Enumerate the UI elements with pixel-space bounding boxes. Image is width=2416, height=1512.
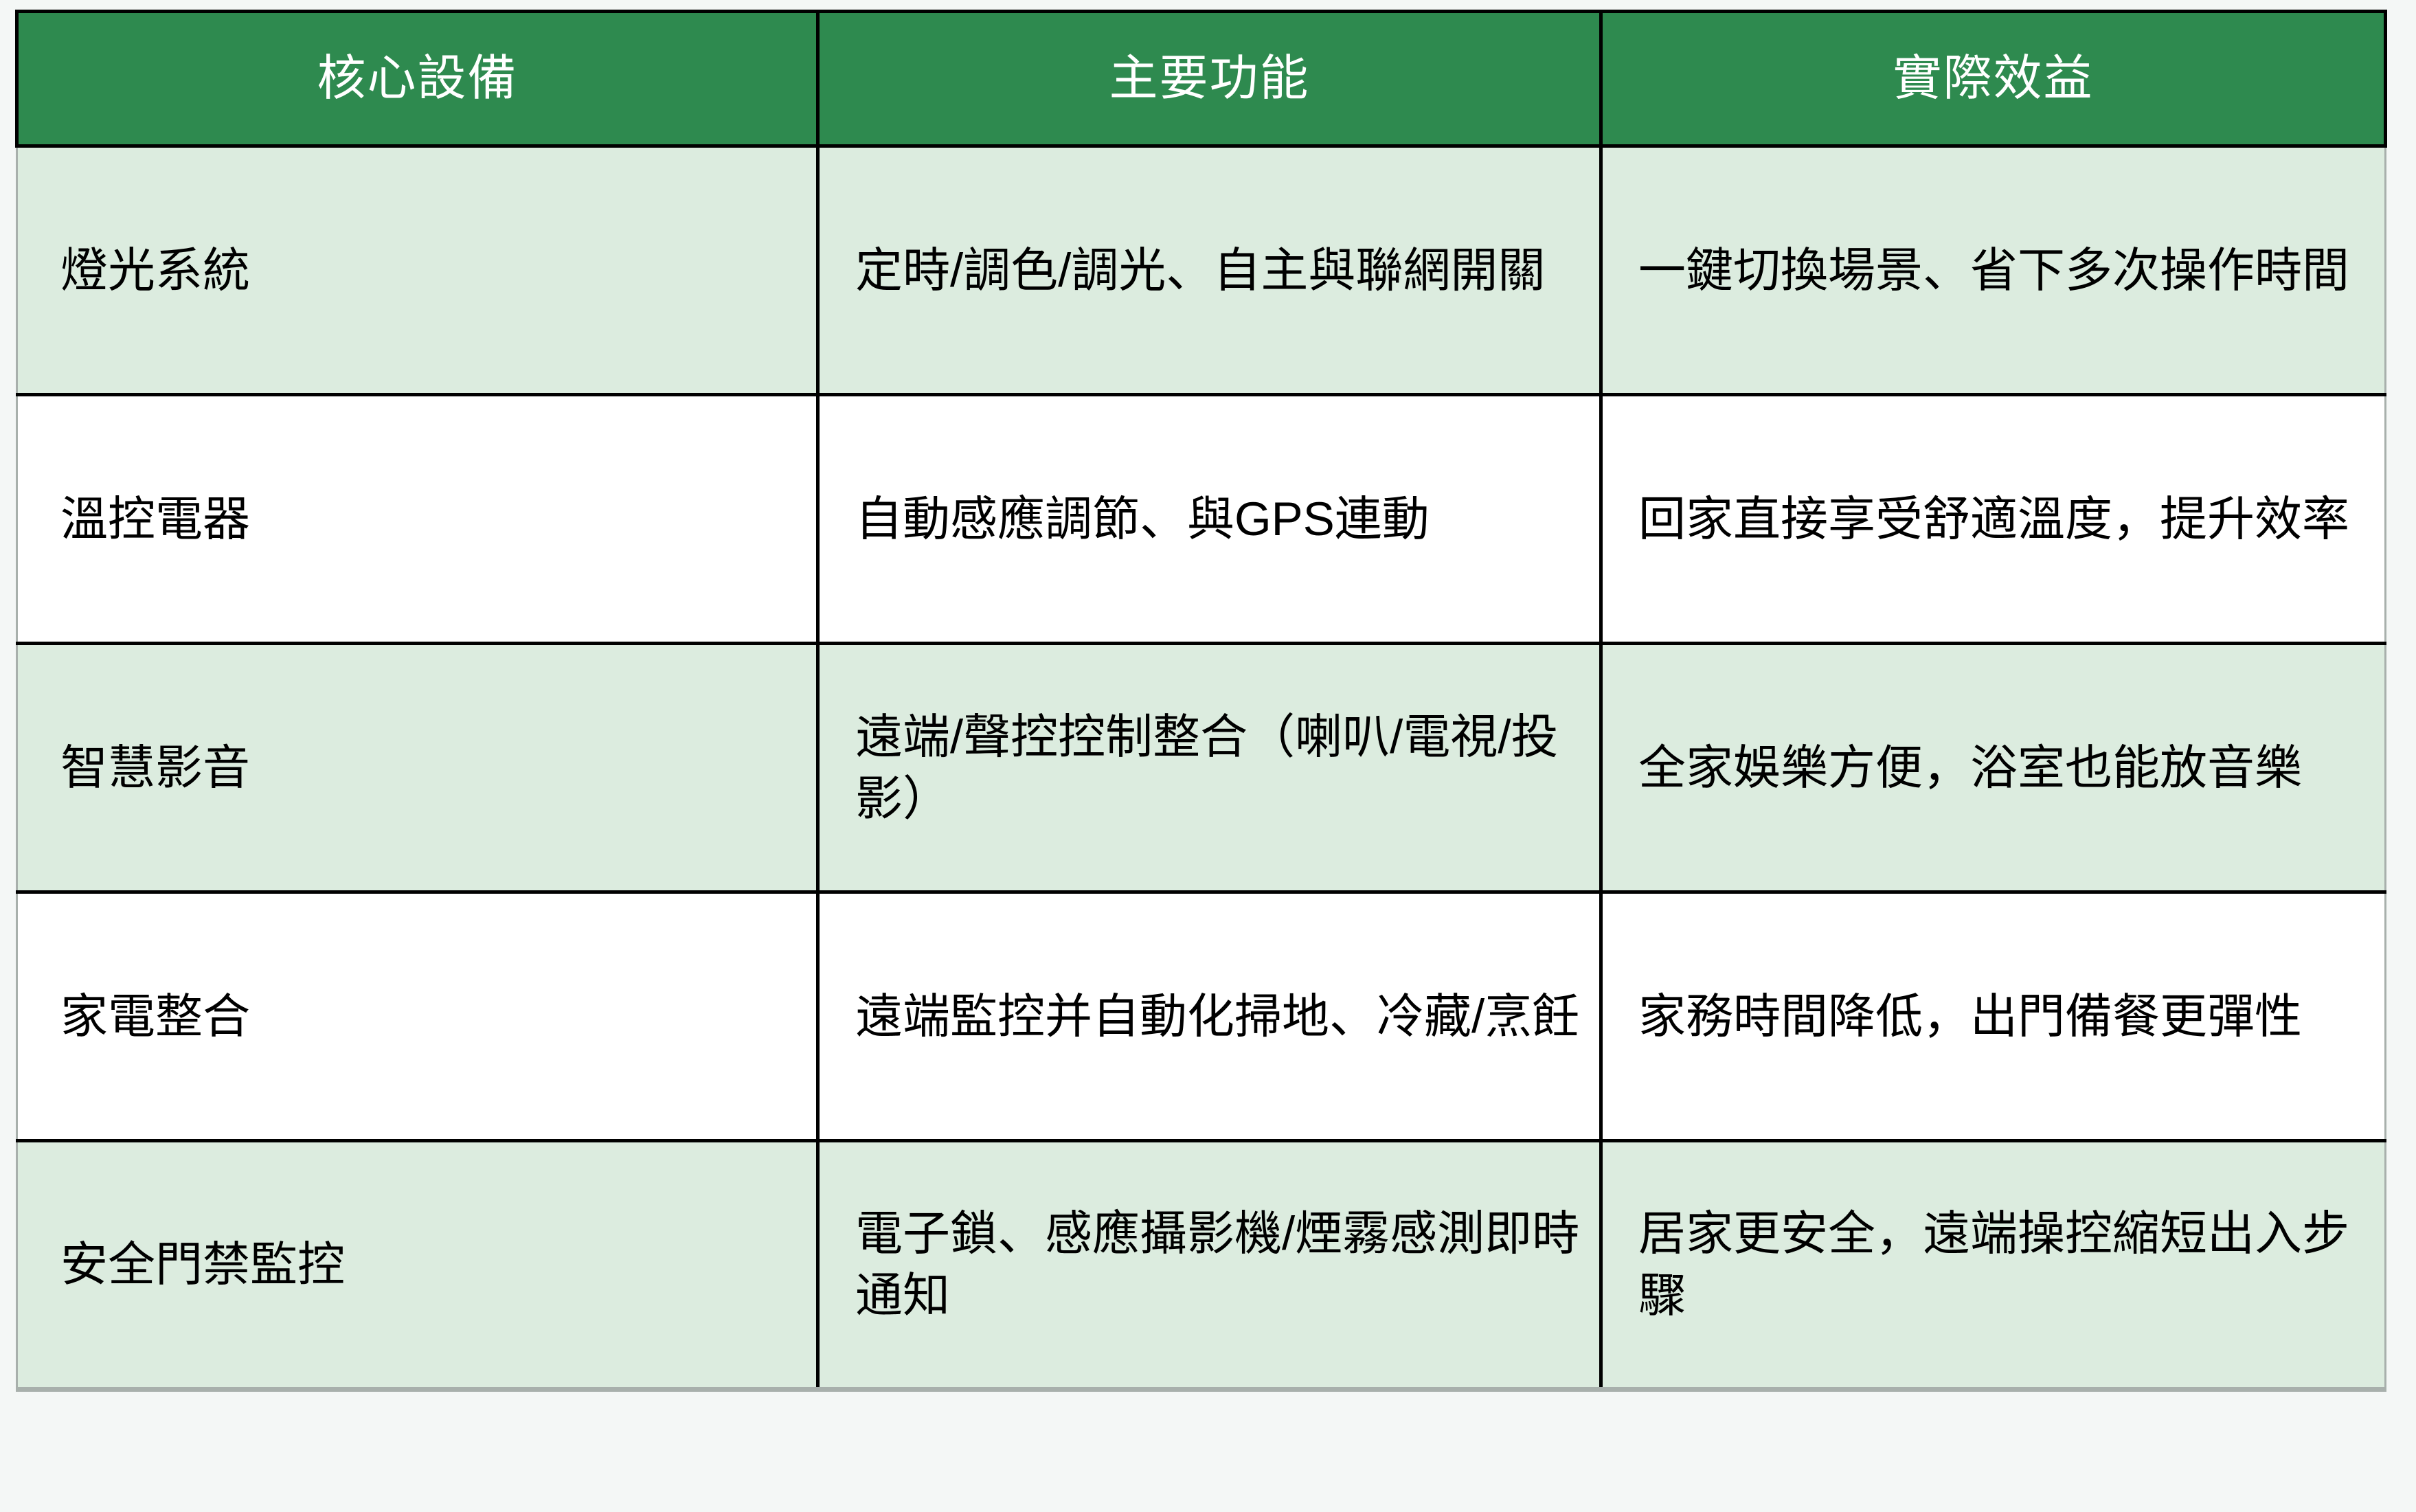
cell-device: 安全門禁監控 (17, 1141, 818, 1390)
cell-device: 智慧影音 (17, 644, 818, 892)
cell-function-text: 定時/調色/調光、自主與聯網開關 (855, 240, 1590, 302)
table-row: 家電整合 遠端監控并自動化掃地、冷藏/烹飪 家務時間降低，出門備餐更彈性 (17, 892, 2386, 1141)
cell-benefit-text: 家務時間降低，出門備餐更彈性 (1638, 986, 2375, 1048)
cell-device: 家電整合 (17, 892, 818, 1141)
cell-device-text: 燈光系統 (60, 240, 798, 302)
cell-function-text: 遠端監控并自動化掃地、冷藏/烹飪 (855, 986, 1590, 1048)
column-header-function: 主要功能 (818, 12, 1601, 146)
cell-benefit-text: 回家直接享受舒適溫度，提升效率 (1638, 488, 2375, 550)
cell-device-text: 智慧影音 (60, 737, 798, 799)
cell-benefit-text: 全家娛樂方便，浴室也能放音樂 (1638, 737, 2375, 799)
table-row: 安全門禁監控 電子鎖、感應攝影機/煙霧感測即時通知 居家更安全，遠端操控縮短出入… (17, 1141, 2386, 1390)
cell-benefit: 回家直接享受舒適溫度，提升效率 (1601, 395, 2386, 644)
table-row: 智慧影音 遠端/聲控控制整合（喇叭/電視/投影） 全家娛樂方便，浴室也能放音樂 (17, 644, 2386, 892)
table-body: 燈光系統 定時/調色/調光、自主與聯網開關 一鍵切換場景、省下多次操作時間 溫控… (17, 146, 2386, 1390)
cell-function: 電子鎖、感應攝影機/煙霧感測即時通知 (818, 1141, 1601, 1390)
page-canvas: 核心設備 主要功能 實際效益 燈光系統 定時/調色/調光、自主與聯網開關 一鍵切… (0, 0, 2416, 1512)
cell-benefit-text: 居家更安全，遠端操控縮短出入步驟 (1638, 1203, 2375, 1326)
cell-benefit: 居家更安全，遠端操控縮短出入步驟 (1601, 1141, 2386, 1390)
cell-function-text: 遠端/聲控控制整合（喇叭/電視/投影） (855, 706, 1590, 829)
cell-benefit: 全家娛樂方便，浴室也能放音樂 (1601, 644, 2386, 892)
table-row: 燈光系統 定時/調色/調光、自主與聯網開關 一鍵切換場景、省下多次操作時間 (17, 146, 2386, 395)
cell-device: 燈光系統 (17, 146, 818, 395)
smart-home-benefit-table-wrapper: 核心設備 主要功能 實際效益 燈光系統 定時/調色/調光、自主與聯網開關 一鍵切… (15, 10, 2384, 1488)
cell-function: 定時/調色/調光、自主與聯網開關 (818, 146, 1601, 395)
table-row: 溫控電器 自動感應調節、與GPS連動 回家直接享受舒適溫度，提升效率 (17, 395, 2386, 644)
cell-function-text: 電子鎖、感應攝影機/煙霧感測即時通知 (855, 1203, 1590, 1326)
cell-function: 自動感應調節、與GPS連動 (818, 395, 1601, 644)
cell-benefit: 家務時間降低，出門備餐更彈性 (1601, 892, 2386, 1141)
cell-function: 遠端/聲控控制整合（喇叭/電視/投影） (818, 644, 1601, 892)
column-header-benefit: 實際效益 (1601, 12, 2386, 146)
table-header-row: 核心設備 主要功能 實際效益 (17, 12, 2386, 146)
column-header-device: 核心設備 (17, 12, 818, 146)
smart-home-benefit-table: 核心設備 主要功能 實際效益 燈光系統 定時/調色/調光、自主與聯網開關 一鍵切… (15, 10, 2387, 1392)
cell-device-text: 溫控電器 (60, 488, 798, 550)
cell-benefit-text: 一鍵切換場景、省下多次操作時間 (1638, 240, 2375, 302)
cell-device-text: 家電整合 (60, 986, 798, 1048)
cell-function-text: 自動感應調節、與GPS連動 (855, 488, 1590, 550)
cell-device: 溫控電器 (17, 395, 818, 644)
cell-benefit: 一鍵切換場景、省下多次操作時間 (1601, 146, 2386, 395)
table-header: 核心設備 主要功能 實際效益 (17, 12, 2386, 146)
cell-function: 遠端監控并自動化掃地、冷藏/烹飪 (818, 892, 1601, 1141)
cell-device-text: 安全門禁監控 (60, 1234, 798, 1296)
